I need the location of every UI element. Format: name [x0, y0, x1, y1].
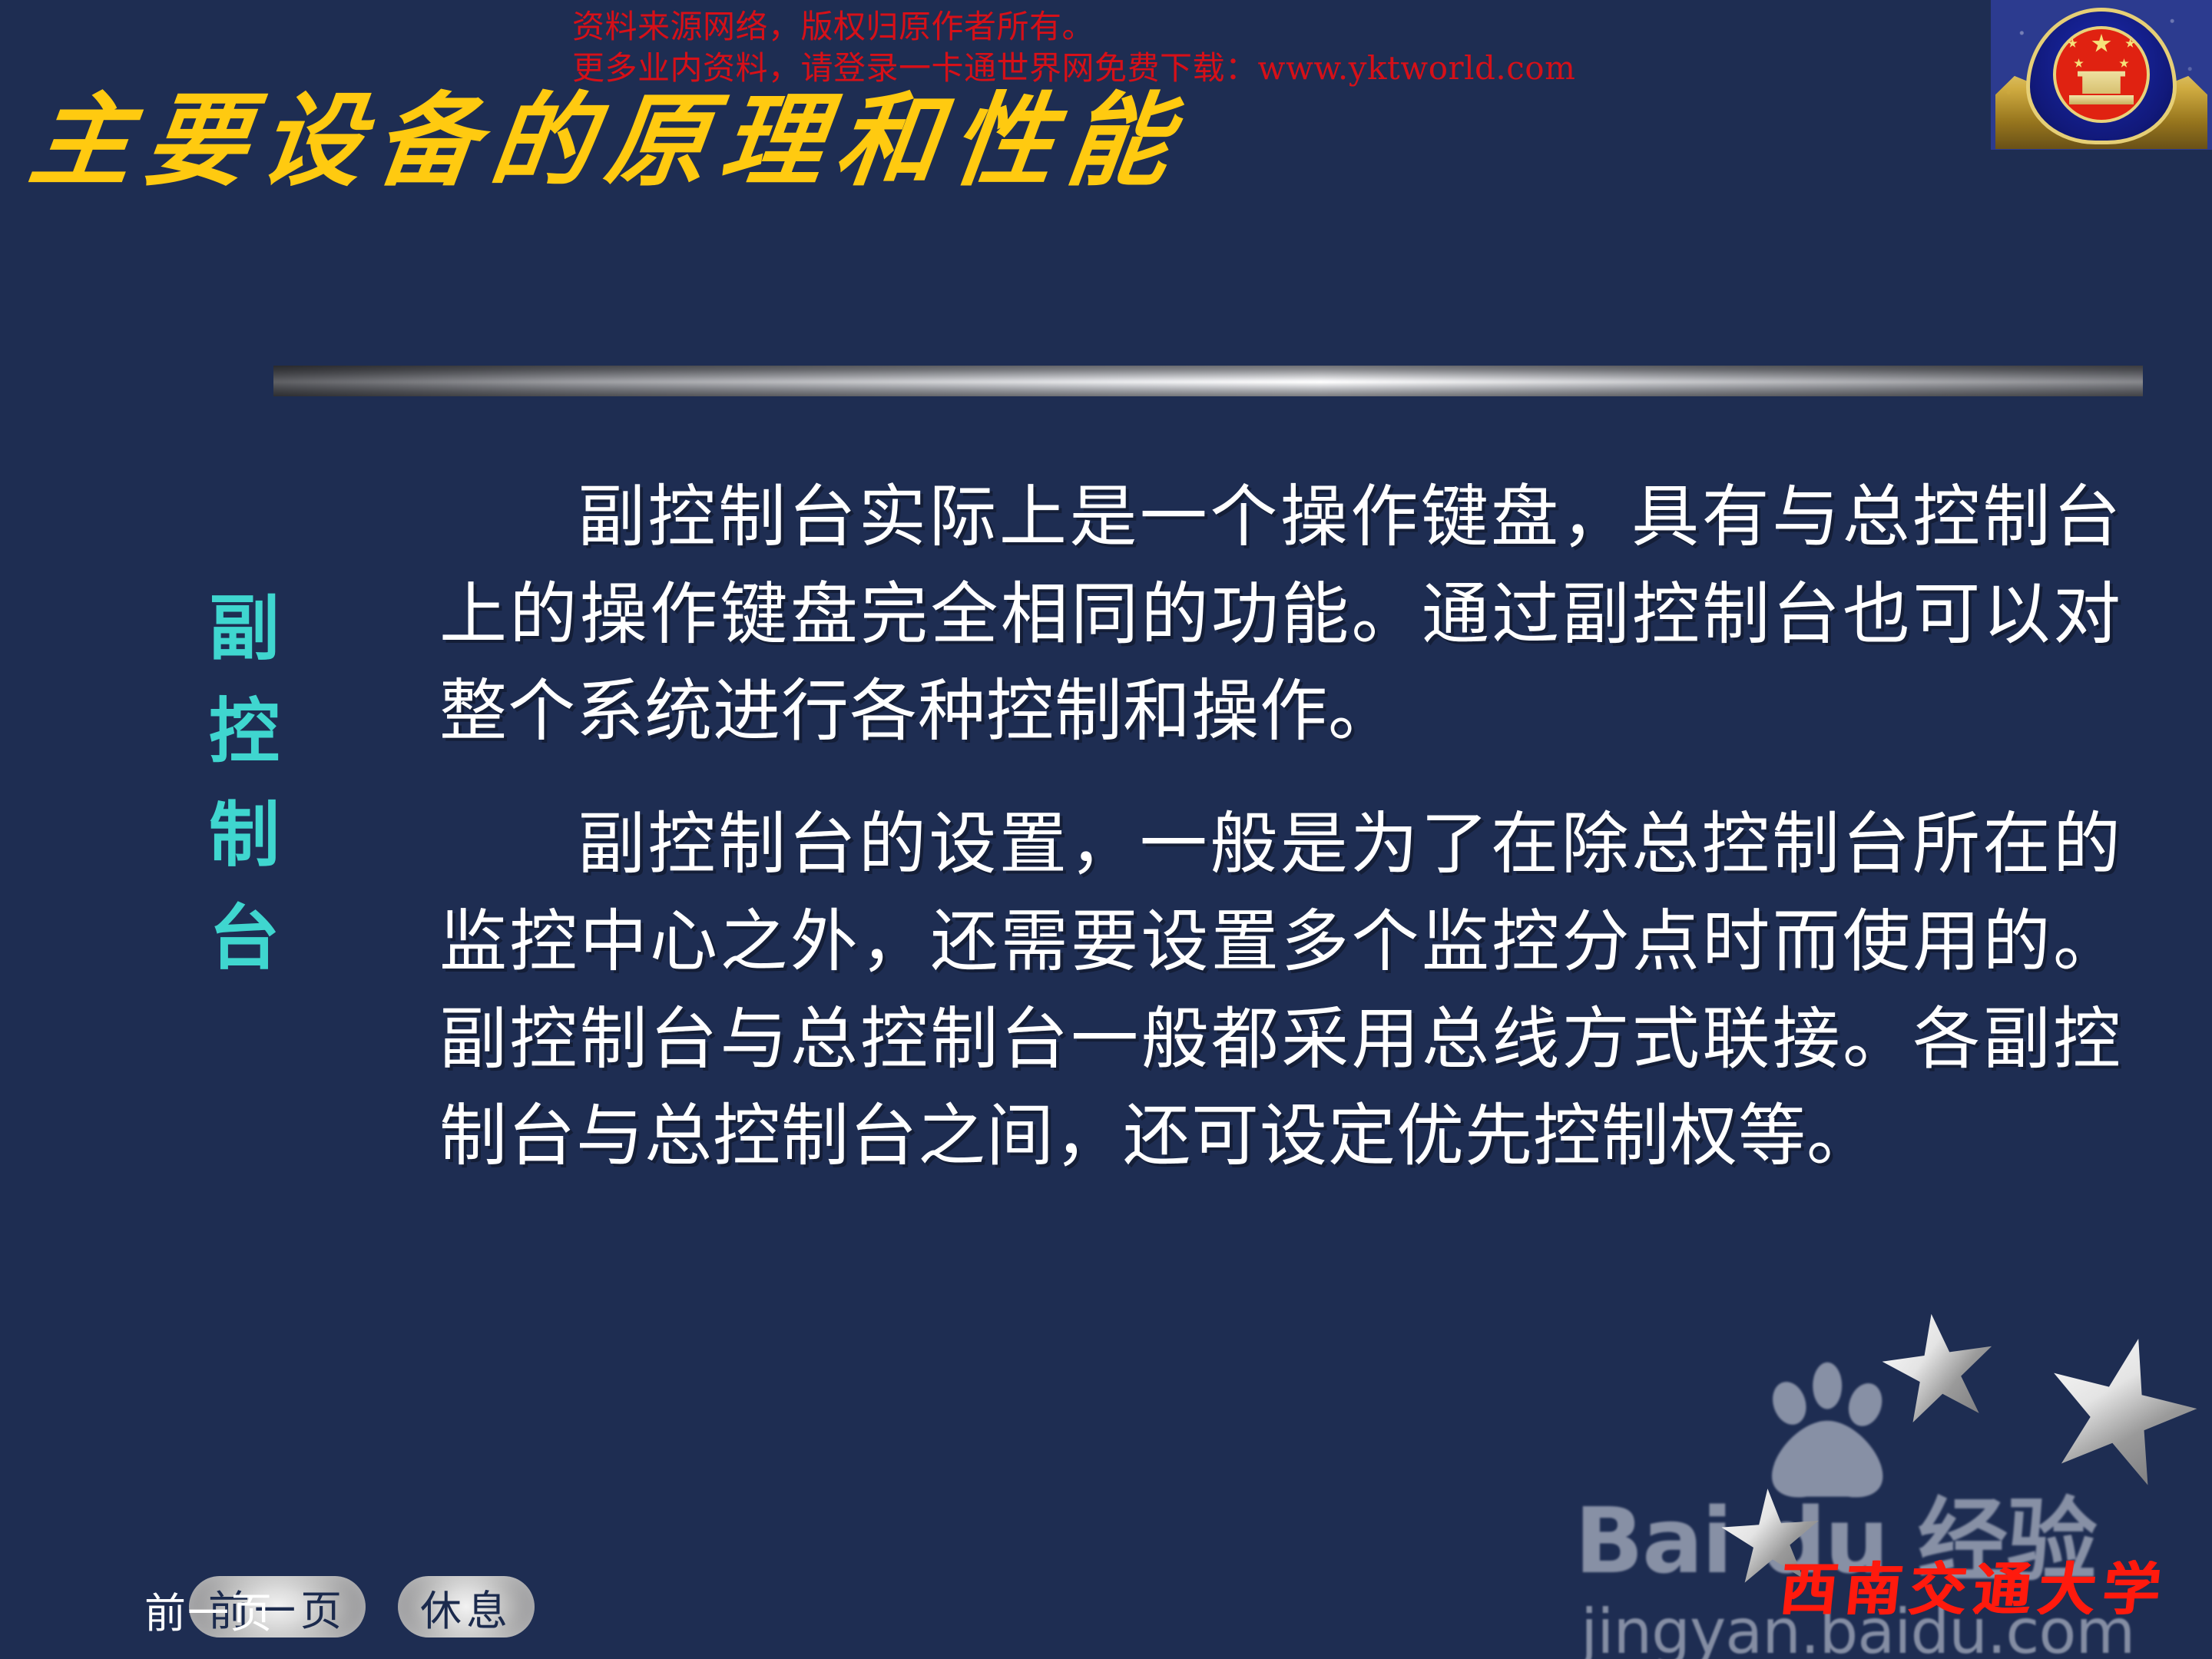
presentation-slide: 资料来源网络，版权归原作者所有。 更多业内资料，请登录一卡通世界网免费下载：ww… — [0, 0, 2212, 1659]
body-paragraph-1: 副控制台实际上是一个操作键盘，具有与总控制台上的操作键盘完全相同的功能。通过副控… — [439, 469, 2121, 760]
page-title: 主要设备的原理和性能 — [25, 91, 974, 192]
source-notice-line-1: 资料来源网络，版权归原作者所有。 — [572, 6, 1878, 48]
baidu-paw-icon — [1757, 1359, 1903, 1505]
watermark-star-3 — [1717, 1485, 1826, 1594]
baidu-jingyan-url: jingyan.baidu.com — [1581, 1596, 2134, 1659]
baidu-jingyan-watermark: Bai du 经验 jingyan.baidu.com 西南交通大学 — [1575, 1313, 2212, 1659]
prev-page-ghost-label: 前一页 — [144, 1579, 273, 1640]
section-heading-vertical: 副 控 制 台 — [183, 578, 306, 990]
section-heading-char-2: 控 — [183, 680, 306, 783]
body-copy: 副控制台实际上是一个操作键盘，具有与总控制台上的操作键盘完全相同的功能。通过副控… — [439, 469, 2121, 1220]
watermark-star-2 — [2027, 1320, 2212, 1506]
body-paragraph-2: 副控制台的设置，一般是为了在除总控制台所在的监控中心之外，还需要设置多个监控分点… — [439, 796, 2121, 1185]
source-notice: 资料来源网络，版权归原作者所有。 更多业内资料，请登录一卡通世界网免费下载：ww… — [572, 6, 1878, 89]
emblem-gate-base — [2069, 95, 2134, 104]
section-heading-char-1: 副 — [183, 578, 306, 680]
title-divider-bar — [273, 366, 2143, 396]
section-heading-char-3: 制 — [183, 784, 306, 887]
watermark-star-1 — [1874, 1306, 2004, 1435]
baidu-logo-text: Bai du 经验 — [1575, 1467, 2096, 1598]
emblem-tiananmen-gate — [2078, 68, 2125, 94]
university-seal-text: 西南交通大学 — [1776, 1544, 2171, 1626]
china-police-emblem-icon — [1991, 0, 2212, 150]
section-heading-char-4: 台 — [183, 887, 306, 990]
rest-button[interactable]: 休息 — [398, 1576, 535, 1637]
